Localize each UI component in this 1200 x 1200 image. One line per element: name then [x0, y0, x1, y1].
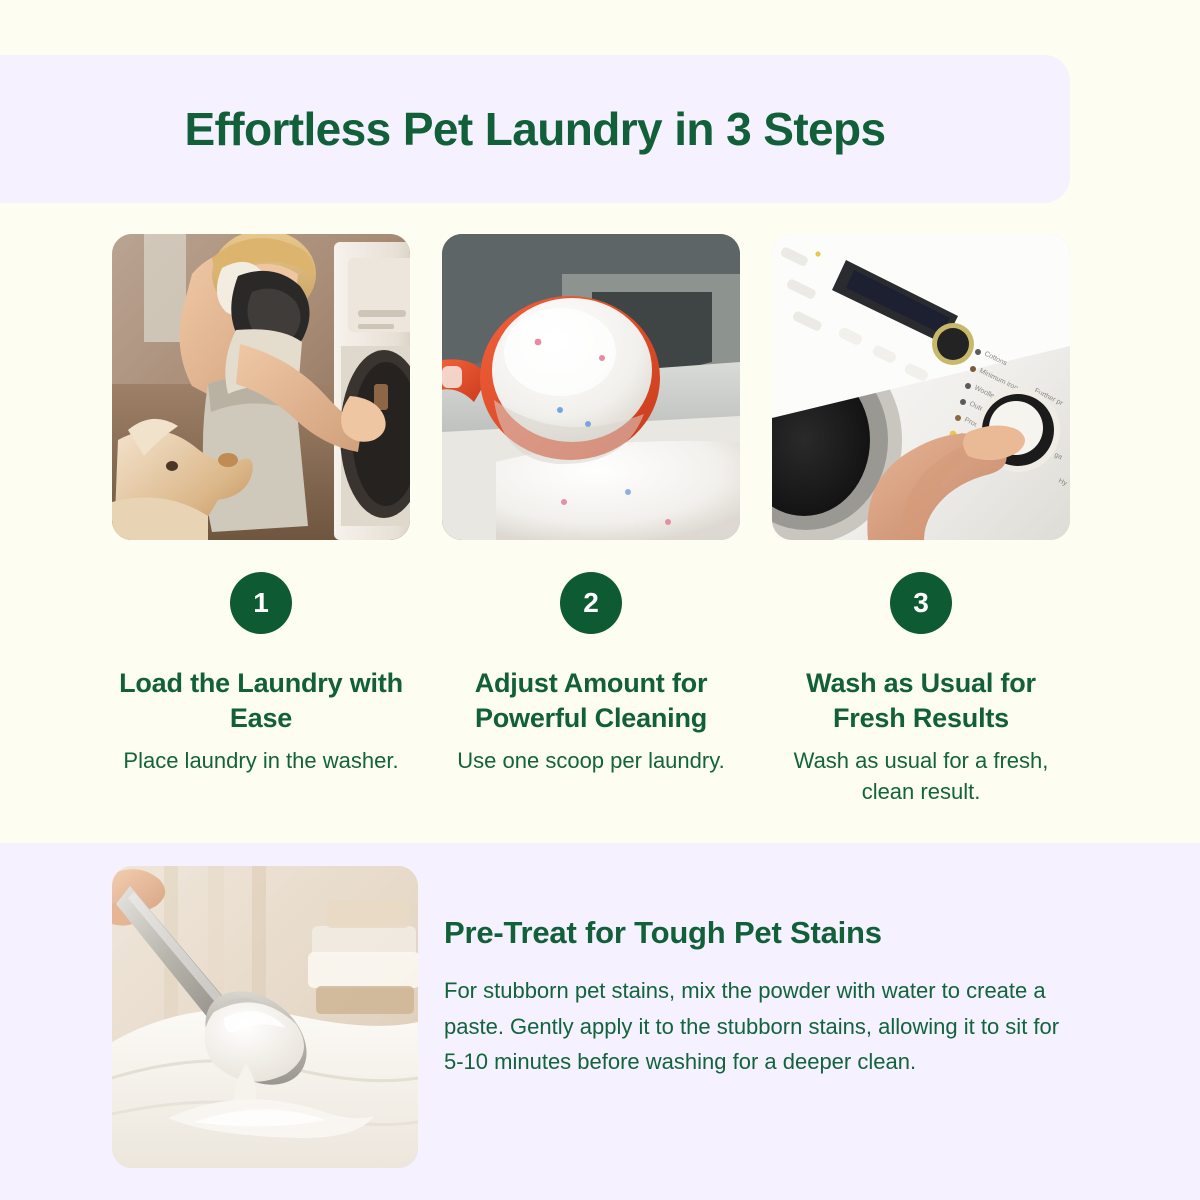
- steps-row: 1 Load the Laundry with Ease Place laund…: [112, 234, 1070, 808]
- page-title: Effortless Pet Laundry in 3 Steps: [184, 103, 885, 156]
- spoon-paste-on-towel-photo: [112, 866, 418, 1168]
- infographic-page: Effortless Pet Laundry in 3 Steps: [0, 0, 1200, 1200]
- step-number-badge: 2: [560, 572, 622, 634]
- step-description: Place laundry in the washer.: [123, 745, 398, 776]
- step-card-2: 2 Adjust Amount for Powerful Cleaning Us…: [442, 234, 740, 808]
- step-title: Load the Laundry with Ease: [116, 666, 406, 735]
- step-number-badge: 1: [230, 572, 292, 634]
- feature-band: Pre-Treat for Tough Pet Stains For stubb…: [0, 843, 1200, 1200]
- feature-text: Pre-Treat for Tough Pet Stains For stubb…: [444, 866, 1076, 1168]
- step-card-1: 1 Load the Laundry with Ease Place laund…: [112, 234, 410, 808]
- feature-title: Pre-Treat for Tough Pet Stains: [444, 914, 1076, 951]
- feature-inner: Pre-Treat for Tough Pet Stains For stubb…: [112, 866, 1112, 1168]
- step-title: Wash as Usual for Fresh Results: [776, 666, 1066, 735]
- step-description: Wash as usual for a fresh, clean result.: [776, 745, 1066, 807]
- header-band: Effortless Pet Laundry in 3 Steps: [0, 55, 1070, 203]
- feature-body: For stubborn pet stains, mix the powder …: [444, 973, 1076, 1080]
- detergent-scoop-photo: [442, 234, 740, 540]
- washing-machine-dial-photo: Cottons Minimum iron Woollens Outerwear …: [772, 234, 1070, 540]
- step-description: Use one scoop per laundry.: [457, 745, 724, 776]
- step-card-3: Cottons Minimum iron Woollens Outerwear …: [772, 234, 1070, 808]
- step-number-badge: 3: [890, 572, 952, 634]
- child-loading-laundry-with-dog-photo: [112, 234, 410, 540]
- step-title: Adjust Amount for Powerful Cleaning: [446, 666, 736, 735]
